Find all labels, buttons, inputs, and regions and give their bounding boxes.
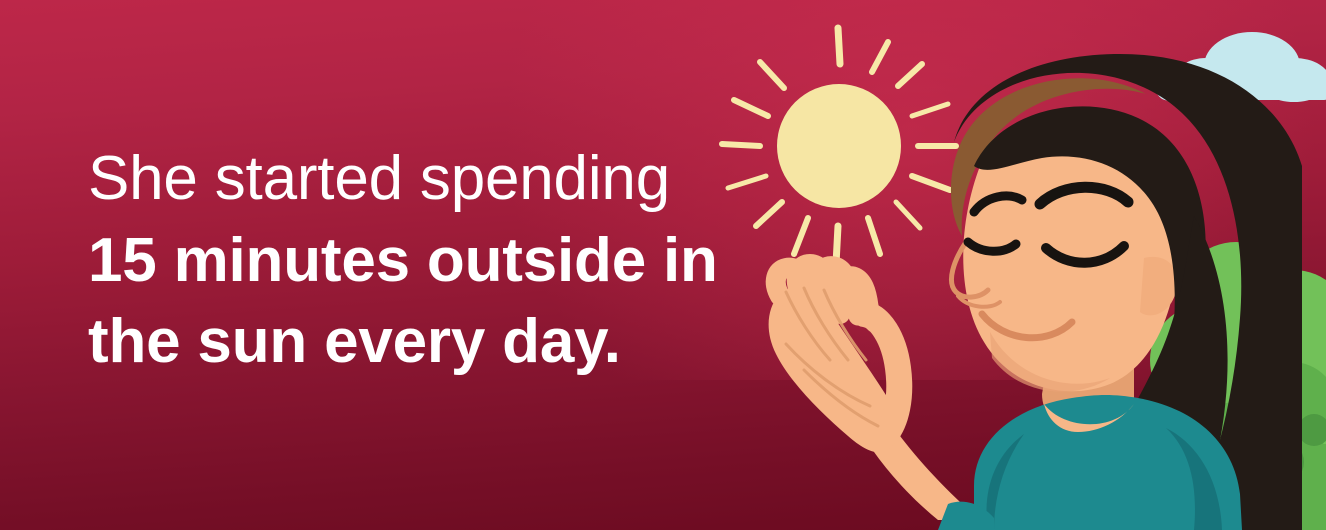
headline-line-1: She started spending bbox=[88, 138, 718, 220]
ear bbox=[1140, 257, 1177, 316]
hand-and-arm bbox=[742, 252, 1002, 530]
headline-line-3: the sun every day. bbox=[88, 301, 718, 382]
headline-line-2: 15 minutes outside in bbox=[88, 220, 718, 301]
hero-banner: She started spending 15 minutes outside … bbox=[0, 0, 1326, 530]
headline: She started spending 15 minutes outside … bbox=[88, 138, 718, 382]
